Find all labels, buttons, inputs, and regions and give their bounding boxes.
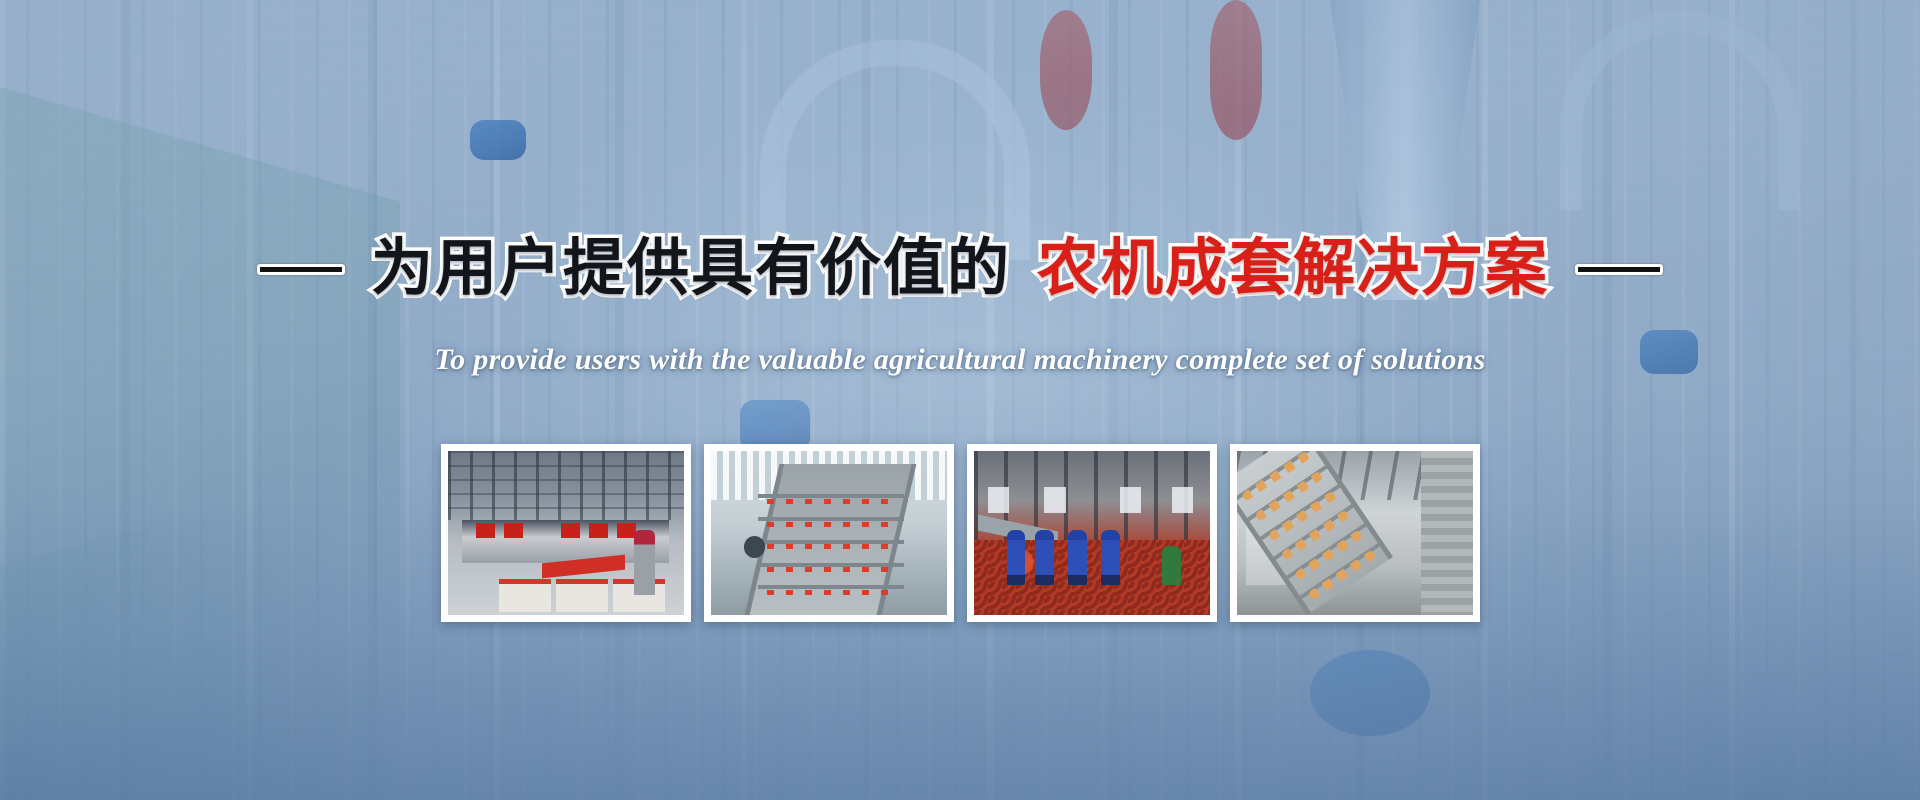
thumbnail-chili-drying-floor[interactable] xyxy=(967,444,1217,622)
red-sign-4 xyxy=(589,523,608,538)
thumbnail-ginger-elevator[interactable] xyxy=(1230,444,1480,622)
thumbnail-tomato-conveyor[interactable] xyxy=(704,444,954,622)
background-image xyxy=(0,0,1920,800)
window-2 xyxy=(1044,487,1065,513)
headline-dark-text: 为用户提供具有价值的 xyxy=(371,238,1011,300)
headline-red-text: 农机成套解决方案 xyxy=(1037,238,1549,300)
conveyor-slat-4 xyxy=(758,563,904,567)
red-sign-2 xyxy=(504,523,523,538)
worker-blue-3 xyxy=(1068,530,1087,586)
subtitle: To provide users with the valuable agric… xyxy=(0,343,1920,377)
conveyor-slat-5 xyxy=(758,585,904,589)
produce-row-4 xyxy=(767,567,899,572)
headline: 为用户提供具有价值的 农机成套解决方案 xyxy=(0,238,1920,300)
conveyor-slat-1 xyxy=(758,494,904,498)
goji-tray-2 xyxy=(556,579,608,612)
conveyor-slat-3 xyxy=(758,540,904,544)
worker-blue-4 xyxy=(1101,530,1120,586)
corrugated-wall xyxy=(1421,451,1473,615)
worker-blue-2 xyxy=(1035,530,1054,586)
window-1 xyxy=(988,487,1009,513)
thumbnail-image-1 xyxy=(448,451,684,615)
thumbnail-image-4 xyxy=(1237,451,1473,615)
produce-row-3 xyxy=(767,544,899,549)
thumbnail-goji-drying-line[interactable] xyxy=(441,444,691,622)
hero-banner: 为用户提供具有价值的 农机成套解决方案 To provide users wit… xyxy=(0,0,1920,800)
thumbnail-strip xyxy=(0,444,1920,622)
thumbnail-image-3 xyxy=(974,451,1210,615)
worker-green-5 xyxy=(1162,546,1181,585)
red-sign-3 xyxy=(561,523,580,538)
worker-blue-1 xyxy=(1007,530,1026,586)
produce-row-1 xyxy=(767,499,899,504)
produce-row-5 xyxy=(767,590,899,595)
window-4 xyxy=(1172,487,1193,513)
headline-rule-right xyxy=(1575,264,1663,275)
worker-figure xyxy=(634,530,655,596)
goji-tray-1 xyxy=(499,579,551,612)
headline-rule-left xyxy=(257,264,345,275)
produce-row-2 xyxy=(767,522,899,527)
red-sign-1 xyxy=(476,523,495,538)
thumbnail-image-2 xyxy=(711,451,947,615)
window-3 xyxy=(1120,487,1141,513)
roof-purlins xyxy=(448,451,684,520)
conveyor-slat-2 xyxy=(758,517,904,521)
conveyor-drive-motor xyxy=(744,536,765,557)
background-haze-overlay xyxy=(0,0,1920,800)
